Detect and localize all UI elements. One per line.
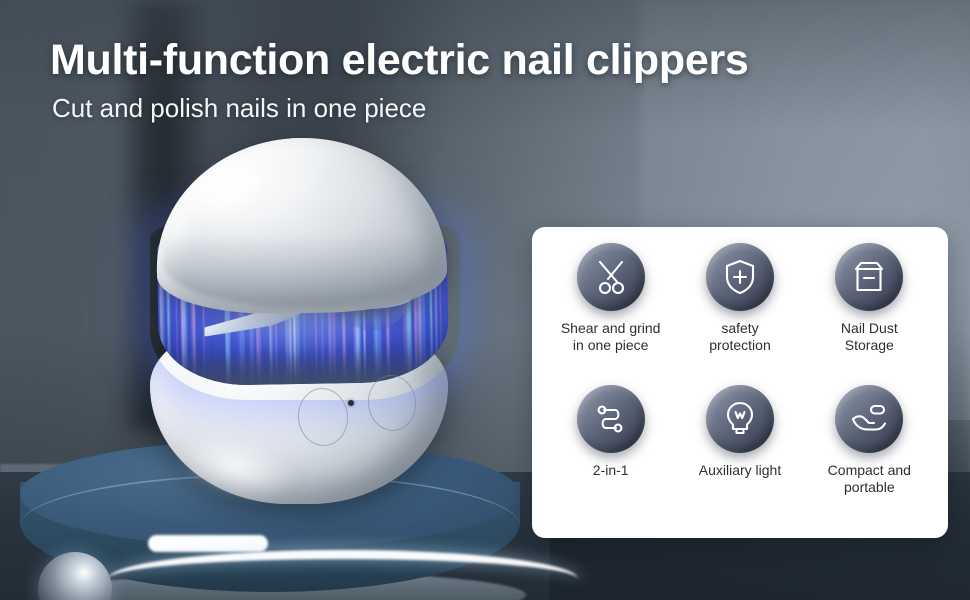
shield-plus-icon	[706, 243, 774, 311]
page-title: Multi-function electric nail clippers	[50, 36, 749, 85]
feature-item[interactable]: safety protection	[675, 243, 804, 383]
scissors-icon	[577, 243, 645, 311]
feature-label: safety protection	[709, 320, 770, 354]
feature-item[interactable]: 2-in-1	[546, 383, 675, 523]
light-bulb-icon	[706, 385, 774, 453]
storage-box-icon	[835, 243, 903, 311]
hand-hold-icon	[835, 385, 903, 453]
feature-label: Compact and portable	[828, 462, 911, 496]
route-path-icon	[577, 385, 645, 453]
feature-item[interactable]: Nail Dust Storage	[805, 243, 934, 383]
feature-item[interactable]: Compact and portable	[805, 383, 934, 523]
feature-grid: Shear and grind in one piecesafety prote…	[546, 243, 934, 523]
product-image	[140, 138, 470, 503]
podium-glow-ring	[108, 550, 578, 600]
product-banner: Multi-function electric nail clippers Cu…	[0, 0, 970, 600]
page-subtitle: Cut and polish nails in one piece	[52, 93, 426, 124]
feature-label: Nail Dust Storage	[841, 320, 898, 354]
feature-item[interactable]: Shear and grind in one piece	[546, 243, 675, 383]
feature-item[interactable]: Auxiliary light	[675, 383, 804, 523]
feature-label: 2-in-1	[593, 462, 629, 479]
status-led	[348, 400, 354, 406]
feature-card: Shear and grind in one piecesafety prote…	[532, 227, 948, 538]
feature-label: Auxiliary light	[699, 462, 781, 479]
feature-label: Shear and grind in one piece	[561, 320, 661, 354]
